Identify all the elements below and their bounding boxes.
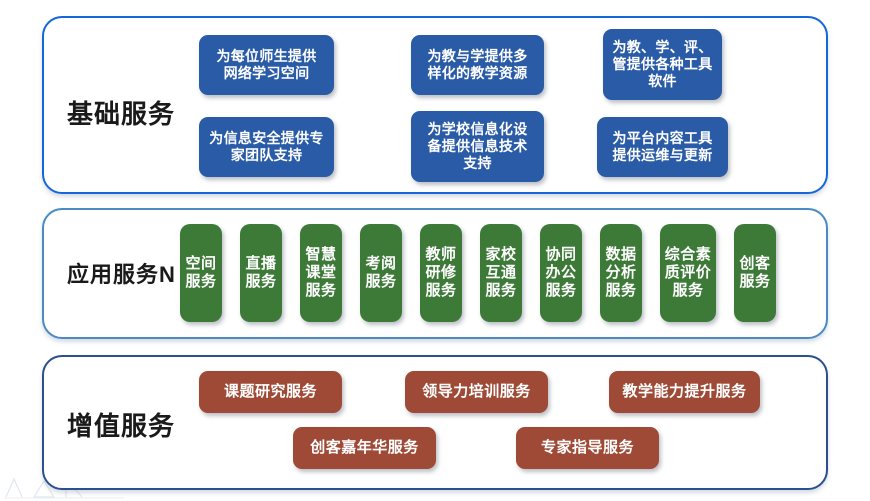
node-research-project-service[interactable]: 课题研究服务 <box>199 371 342 413</box>
node-security-expert-team[interactable]: 为信息安全提供专 家团队支持 <box>199 117 334 177</box>
node-home-school-service[interactable]: 家校 互通 服务 <box>480 224 522 322</box>
tier-value-added-services: 增值服务 课题研究服务 创客嘉年华服务 领导力培训服务 专家指导服务 教学能力提… <box>42 355 828 490</box>
tier-label-application-services: 应用服务N <box>67 257 176 289</box>
node-school-it-support[interactable]: 为学校信息化设 备提供信息技术 支持 <box>411 111 544 182</box>
node-network-learning-space[interactable]: 为每位师生提供 网络学习空间 <box>199 35 334 95</box>
node-platform-maintenance[interactable]: 为平台内容工具 提供运维与更新 <box>597 117 728 177</box>
node-data-analysis-service[interactable]: 数据 分析 服务 <box>600 224 642 322</box>
diagram-canvas: 教育资源 教育资源 基础服务 为每位师生提供 网络学习空间 为信息安全提供专 家… <box>0 0 870 501</box>
node-expert-guidance-service[interactable]: 专家指导服务 <box>516 427 659 469</box>
tier-label-basic-services: 基础服务 <box>67 94 175 131</box>
node-comprehensive-quality-service[interactable]: 综合素 质评价 服务 <box>660 224 716 322</box>
tier-application-services: 应用服务N 空间 服务 直播 服务 智慧 课堂 服务 考阅 服务 教师 研修 服… <box>42 208 828 339</box>
node-collaborative-office-service[interactable]: 协同 办公 服务 <box>540 224 582 322</box>
node-space-service[interactable]: 空间 服务 <box>180 224 222 322</box>
node-teacher-training-service[interactable]: 教师 研修 服务 <box>420 224 462 322</box>
node-teaching-ability-service[interactable]: 教学能力提升服务 <box>609 371 760 413</box>
tier-basic-services: 基础服务 为每位师生提供 网络学习空间 为信息安全提供专 家团队支持 为教与学提… <box>42 16 828 194</box>
node-maker-carnival-service[interactable]: 创客嘉年华服务 <box>293 427 436 469</box>
node-exam-review-service[interactable]: 考阅 服务 <box>360 224 402 322</box>
node-smart-classroom-service[interactable]: 智慧 课堂 服务 <box>300 224 342 322</box>
node-tool-software[interactable]: 为教、学、评、 管提供各种工具 软件 <box>603 29 722 100</box>
tier-label-value-added-services: 增值服务 <box>67 406 175 443</box>
node-teaching-resources[interactable]: 为教与学提供多 样化的教学资源 <box>411 35 544 95</box>
node-maker-service[interactable]: 创客 服务 <box>734 224 776 322</box>
node-leadership-training-service[interactable]: 领导力培训服务 <box>405 371 548 413</box>
node-live-broadcast-service[interactable]: 直播 服务 <box>240 224 282 322</box>
